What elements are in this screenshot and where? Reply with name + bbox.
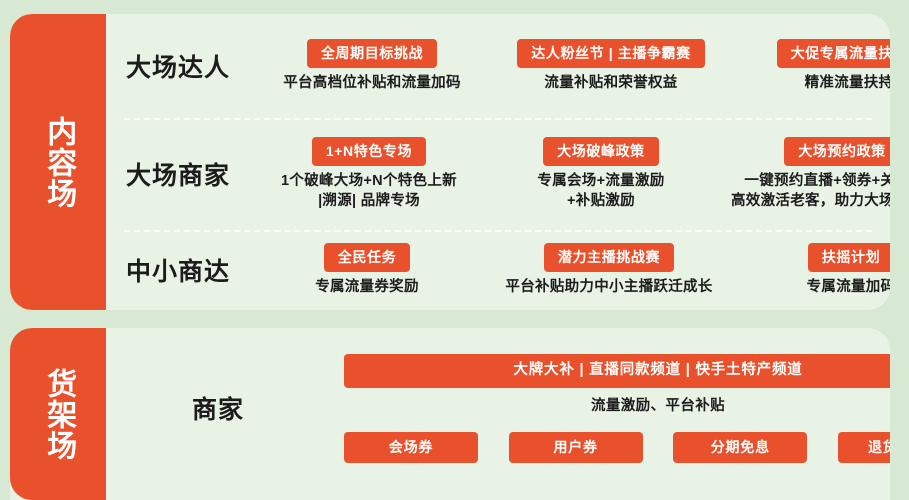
pill-zhongxiao-1[interactable]: 全民任务 <box>324 243 410 272</box>
row-label-daren: 大场达人 <box>106 48 250 84</box>
row-label-shangjia: 大场商家 <box>106 156 250 192</box>
shelf-chip-4[interactable]: 退货补运费 <box>838 432 890 463</box>
section-rail-content: 内容场 <box>10 14 106 310</box>
sub-daren-2: 流量补贴和荣誉权益 <box>544 74 677 94</box>
pill-zhongxiao-3[interactable]: 扶摇计划 <box>808 243 890 272</box>
cell-shangjia-2: 大场破峰政策 专属会场+流量激励 +补贴激励 <box>488 137 714 211</box>
shelf-chip-group: 会场券 用户券 分期免息 退货补运费 <box>344 432 890 463</box>
cell-daren-1: 全周期目标挑战 平台高档位补贴和流量加码 <box>250 39 494 94</box>
pill-daren-2[interactable]: 达人粉丝节 | 主播争霸赛 <box>517 39 705 68</box>
row-cells-daren: 全周期目标挑战 平台高档位补贴和流量加码 达人粉丝节 | 主播争霸赛 流量补贴和… <box>250 39 890 94</box>
section-shelf-field: 货架场 商家 大牌大补 | 直播同款频道 | 快手土特产频道 流量激励、平台补贴… <box>10 328 890 500</box>
content-card-body: 大场达人 全周期目标挑战 平台高档位补贴和流量加码 达人粉丝节 | 主播争霸赛 … <box>106 14 890 310</box>
sub-shangjia-3: 一键预约直播+领券+关注涨粉 高效激活老客，助力大场破峰爆发 <box>731 172 890 211</box>
row-cells-shangjia: 1+N特色专场 1个破峰大场+N个特色上新 |溯源| 品牌专场 大场破峰政策 专… <box>250 137 890 211</box>
cell-daren-2: 达人粉丝节 | 主播争霸赛 流量补贴和荣誉权益 <box>494 39 728 94</box>
sub-daren-1: 平台高档位补贴和流量加码 <box>283 74 461 94</box>
cell-shangjia-1: 1+N特色专场 1个破峰大场+N个特色上新 |溯源| 品牌专场 <box>250 137 488 211</box>
row-label-zhongxiao: 中小商达 <box>106 252 250 288</box>
row-zhongxiao: 中小商达 全民任务 专属流量券奖励 潜力主播挑战赛 平台补贴助力中小主播跃迁成长… <box>106 230 890 310</box>
pill-zhongxiao-2[interactable]: 潜力主播挑战赛 <box>544 243 674 272</box>
shelf-banner-button[interactable]: 大牌大补 | 直播同款频道 | 快手土特产频道 <box>344 354 890 388</box>
row-cells-zhongxiao: 全民任务 专属流量券奖励 潜力主播挑战赛 平台补贴助力中小主播跃迁成长 扶摇计划… <box>250 243 890 298</box>
sub-zhongxiao-2: 平台补贴助力中小主播跃迁成长 <box>505 278 712 298</box>
section-rail-label-shelf: 货架场 <box>40 368 77 461</box>
cell-shangjia-3: 大场预约政策 一键预约直播+领券+关注涨粉 高效激活老客，助力大场破峰爆发 <box>714 137 890 211</box>
cell-daren-3: 大促专属流量扶持 精准流量扶持 <box>728 39 890 94</box>
sub-shangjia-2: 专属会场+流量激励 +补贴激励 <box>537 172 664 211</box>
cell-zhongxiao-2: 潜力主播挑战赛 平台补贴助力中小主播跃迁成长 <box>484 243 734 298</box>
pill-shangjia-1[interactable]: 1+N特色专场 <box>312 137 426 166</box>
row-shangjia: 大场商家 1+N特色专场 1个破峰大场+N个特色上新 |溯源| 品牌专场 大场破… <box>106 118 890 230</box>
pill-shangjia-3[interactable]: 大场预约政策 <box>784 137 890 166</box>
section-content-field: 内容场 大场达人 全周期目标挑战 平台高档位补贴和流量加码 达人粉丝节 | 主播… <box>10 14 890 310</box>
section-rail-shelf: 货架场 <box>10 328 106 500</box>
sub-zhongxiao-3: 专属流量加码 <box>807 278 890 298</box>
section-rail-label-content: 内容场 <box>40 116 77 209</box>
shelf-card-body: 商家 大牌大补 | 直播同款频道 | 快手土特产频道 流量激励、平台补贴 会场券… <box>106 328 890 500</box>
pill-daren-1[interactable]: 全周期目标挑战 <box>307 39 437 68</box>
shelf-banner-sub: 流量激励、平台补贴 <box>344 394 890 415</box>
sub-zhongxiao-1: 专属流量券奖励 <box>315 278 419 298</box>
cell-zhongxiao-1: 全民任务 专属流量券奖励 <box>250 243 484 298</box>
pill-shangjia-2[interactable]: 大场破峰政策 <box>543 137 659 166</box>
row-label-shangjia-shelf: 商家 <box>148 390 288 426</box>
sub-shangjia-1: 1个破峰大场+N个特色上新 |溯源| 品牌专场 <box>281 172 457 211</box>
pill-daren-3[interactable]: 大促专属流量扶持 <box>777 39 890 68</box>
infographic-page: 内容场 大场达人 全周期目标挑战 平台高档位补贴和流量加码 达人粉丝节 | 主播… <box>0 0 909 500</box>
row-daren: 大场达人 全周期目标挑战 平台高档位补贴和流量加码 达人粉丝节 | 主播争霸赛 … <box>106 14 890 118</box>
shelf-chip-3[interactable]: 分期免息 <box>673 432 807 463</box>
cell-zhongxiao-3: 扶摇计划 专属流量加码 <box>734 243 890 298</box>
sub-daren-3: 精准流量扶持 <box>805 74 890 94</box>
shelf-chip-2[interactable]: 用户券 <box>509 432 643 463</box>
shelf-chip-1[interactable]: 会场券 <box>344 432 478 463</box>
